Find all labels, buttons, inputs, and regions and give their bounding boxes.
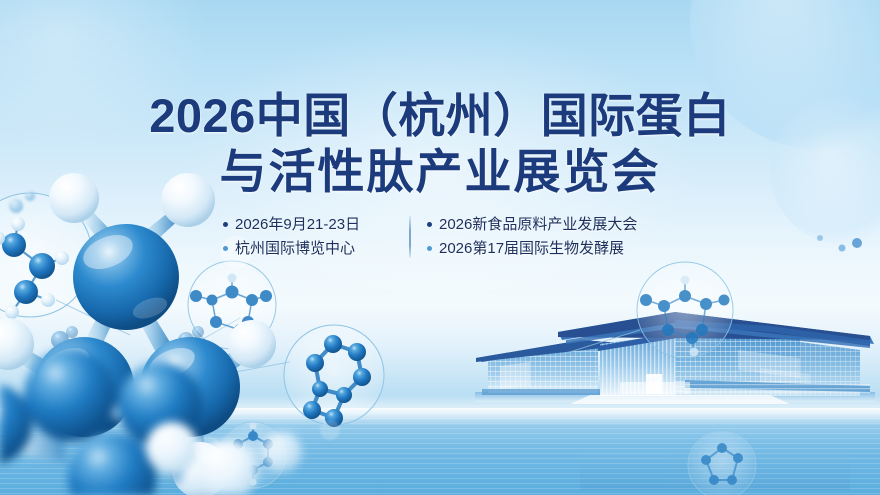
bullet-icon (427, 222, 432, 227)
atom-white (228, 320, 276, 368)
molecule-inset-center (188, 261, 276, 349)
title-line-1: 2026中国（杭州）国际蛋白 (0, 88, 880, 144)
convention-center-reflection (470, 420, 880, 490)
detail-row-venue: 杭州国际博览中心 (223, 238, 393, 259)
detail-row-date: 2026年9月21-23日 (223, 214, 393, 235)
detail-row-conference: 2026新食品原料产业发展大会 (427, 214, 657, 235)
detail-text: 2026第17届国际生物发酵展 (439, 238, 624, 259)
title-line-2: 与活性肽产业展览会 (0, 144, 880, 200)
bullet-icon (223, 222, 228, 227)
detail-text: 2026新食品原料产业发展大会 (439, 214, 637, 235)
page-title: 2026中国（杭州）国际蛋白 与活性肽产业展览会 (0, 88, 880, 200)
detail-column-left: 2026年9月21-23日 杭州国际博览中心 (223, 214, 393, 259)
convention-center-illustration (470, 296, 880, 426)
atom-white (0, 318, 34, 370)
exhibition-banner: 2026中国（杭州）国际蛋白 与活性肽产业展览会 2026年9月21-23日 杭… (0, 0, 880, 495)
detail-text: 2026年9月21-23日 (235, 214, 360, 235)
bullet-icon (427, 246, 432, 251)
bullet-icon (223, 246, 228, 251)
detail-column-right: 2026新食品原料产业发展大会 2026第17届国际生物发酵展 (427, 214, 657, 259)
detail-text: 杭州国际博览中心 (235, 238, 355, 259)
detail-divider (409, 216, 411, 258)
event-details: 2026年9月21-23日 杭州国际博览中心 2026新食品原料产业发展大会 2… (0, 214, 880, 259)
detail-row-expo: 2026第17届国际生物发酵展 (427, 238, 657, 259)
